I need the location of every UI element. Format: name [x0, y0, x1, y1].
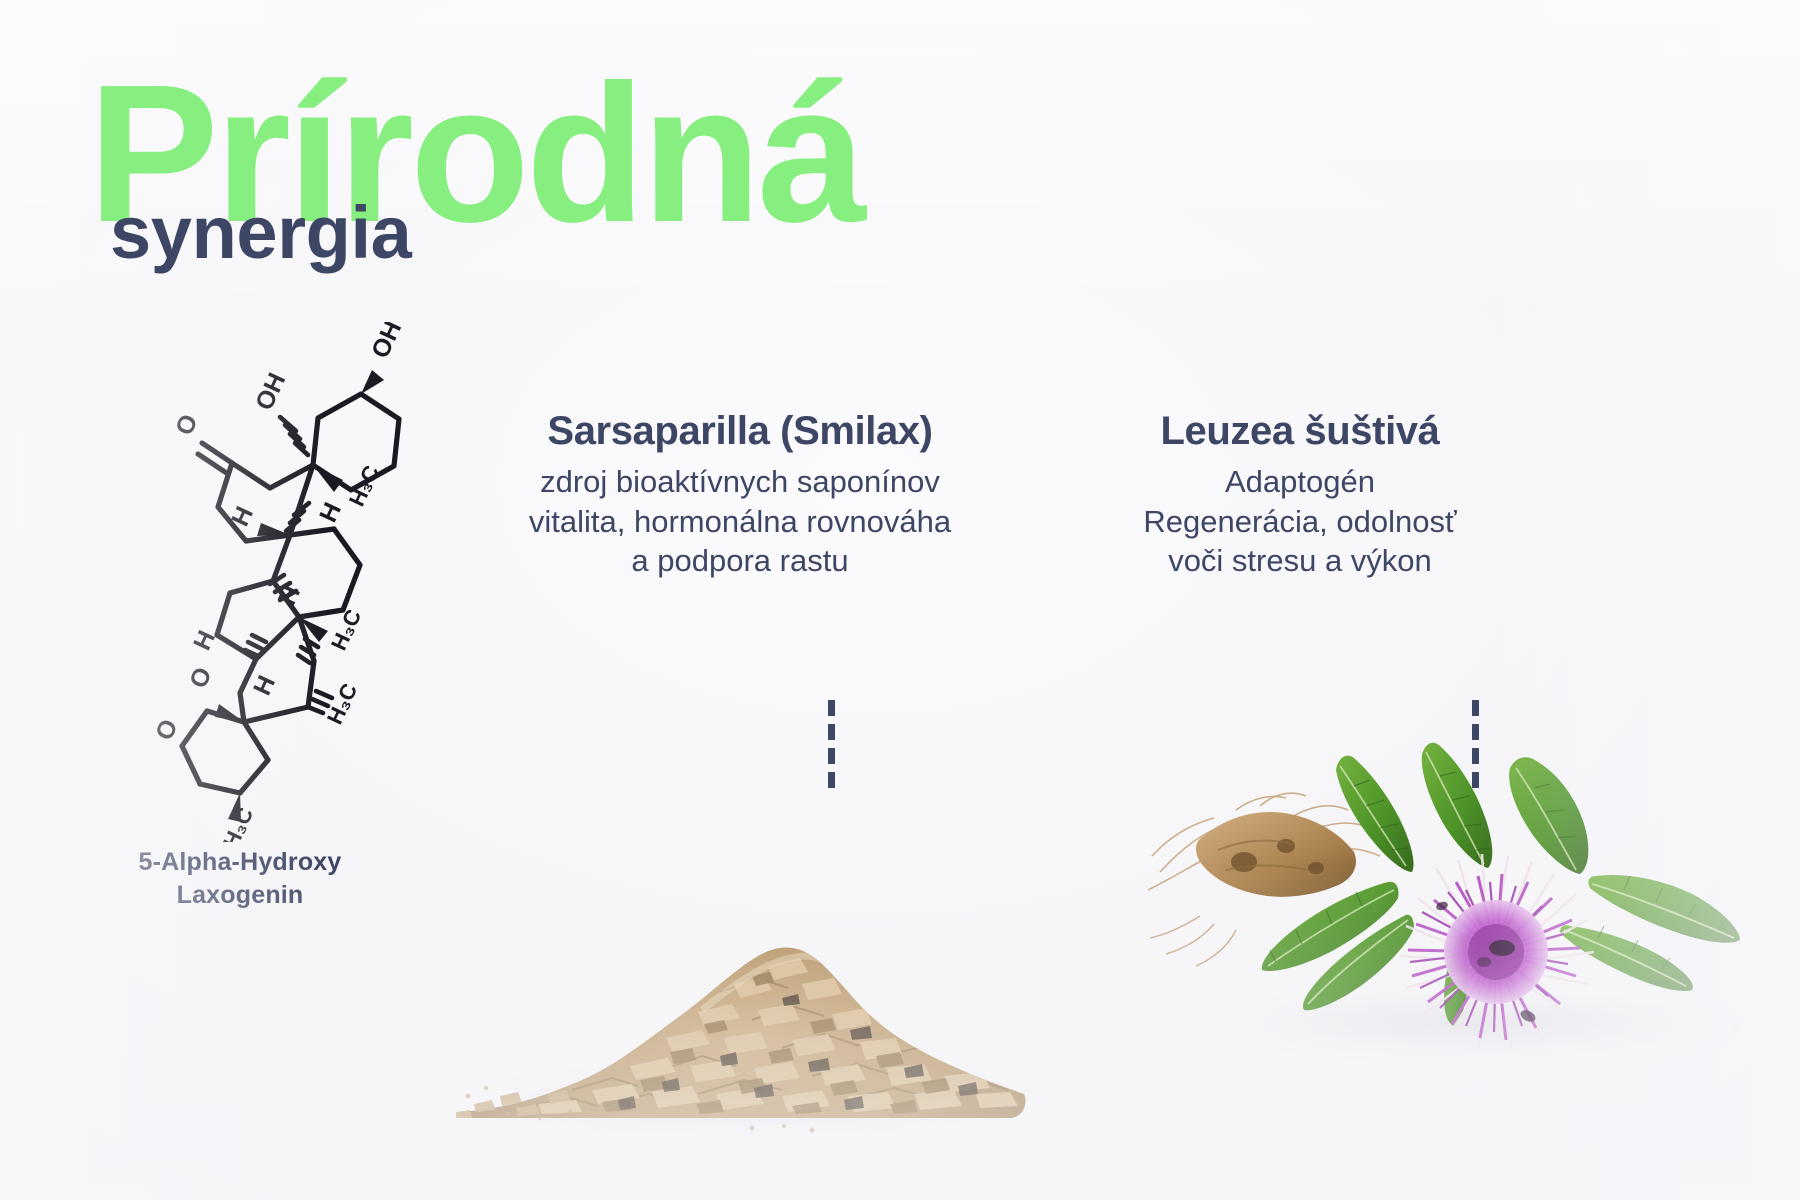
leuzea-body-line-3: voči stresu a výkon: [1060, 541, 1540, 581]
atom-label-h3c-a: H₃C: [344, 461, 384, 510]
poster-canvas: Prírodná synergia: [0, 0, 1800, 1200]
column-sarsaparilla-body: zdroj bioaktívnych saponínov vitalita, h…: [440, 462, 1040, 581]
atom-label-o-ketone: O: [170, 410, 204, 439]
column-sarsaparilla-title: Sarsaparilla (Smilax): [440, 408, 1040, 454]
connector-dashed-line-sarsaparilla: [828, 700, 835, 792]
atom-label-h3c-1: H: [314, 498, 347, 526]
atom-label-h-2: H: [273, 581, 306, 609]
leuzea-flower: [1400, 854, 1594, 1050]
molecule-caption: 5-Alpha-Hydroxy Laxogenin: [60, 846, 420, 911]
laxogenin-molecule-icon: OH OH O H H H H H O O H₃C H₃C H₃C H₃C: [118, 322, 428, 842]
leuzea-thistle-image: [1140, 740, 1800, 1060]
sarsaparilla-body-line-2: vitalita, hormonálna rovnováha: [440, 502, 1040, 542]
atom-label-h3c-d: H₃C: [218, 803, 258, 842]
column-leuzea-title: Leuzea šuštivá: [1060, 408, 1540, 454]
sarsaparilla-body-line-3: a podpora rastu: [440, 541, 1040, 581]
atom-label-h-4: H: [248, 671, 281, 699]
atom-label-o-ring-1: O: [184, 663, 218, 692]
column-leuzea-body: Adaptogén Regenerácia, odolnosť voči str…: [1060, 462, 1540, 581]
headline-block: Prírodná synergia: [0, 0, 1100, 300]
column-sarsaparilla: Sarsaparilla (Smilax) zdroj bioaktívnych…: [440, 408, 1040, 581]
headline-secondary: synergia: [110, 196, 411, 270]
molecule-caption-line2: Laxogenin: [60, 879, 420, 912]
leuzea-body-line-1: Adaptogén: [1060, 462, 1540, 502]
sarsaparilla-body-line-1: zdroj bioaktívnych saponínov: [440, 462, 1040, 502]
column-leuzea: Leuzea šuštivá Adaptogén Regenerácia, od…: [1060, 408, 1540, 581]
sarsaparilla-root-pile-image: [452, 880, 1030, 1140]
atom-label-o-ring-2: O: [150, 715, 184, 744]
molecule-caption-line1: 5-Alpha-Hydroxy: [60, 846, 420, 879]
atom-label-oh-top: OH: [366, 322, 407, 363]
leuzea-body-line-2: Regenerácia, odolnosť: [1060, 502, 1540, 542]
atom-label-h3c-c: H₃C: [322, 679, 362, 728]
